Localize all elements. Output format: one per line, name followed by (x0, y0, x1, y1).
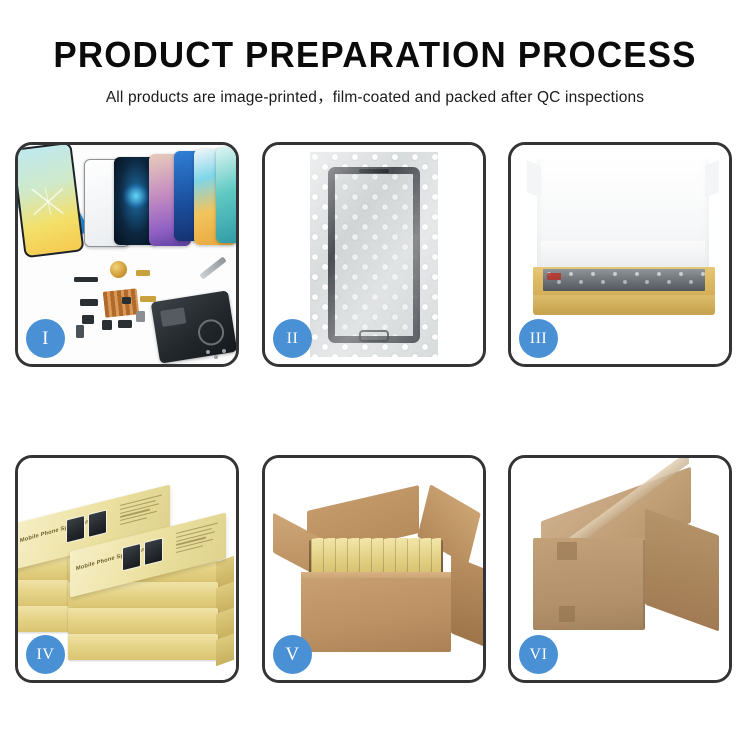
carton-front-face (301, 578, 451, 652)
tweezers-tool (199, 256, 226, 279)
wrapped-screen-in-box (543, 269, 705, 291)
bubble-wrap-sheet (310, 152, 438, 357)
step-card-6[interactable]: VI (508, 455, 732, 683)
carton-hand-hole (557, 542, 577, 560)
wrapped-phone-screen (328, 167, 420, 343)
retail-box (68, 608, 218, 634)
connector-chip-part (103, 288, 140, 317)
step-card-3[interactable]: III (508, 142, 732, 367)
kraft-box-front (533, 295, 715, 315)
spare-part (136, 270, 150, 276)
process-step-grid: I II (15, 142, 740, 683)
step-badge-5: V (273, 635, 312, 674)
spare-part (76, 325, 84, 338)
sealed-shipping-carton (533, 494, 719, 644)
open-shipping-carton (283, 492, 473, 652)
step-card-4[interactable]: Mobile Phone Spare Parts Mobile Phone Sp… (15, 455, 239, 683)
spare-part (122, 297, 131, 304)
teal-screen-panel (216, 147, 236, 243)
page-title: PRODUCT PREPARATION PROCESS (11, 36, 739, 74)
page-subtitle: All products are image-printed，film-coat… (0, 85, 750, 107)
retail-box (68, 634, 218, 660)
step-card-2[interactable]: II (262, 142, 486, 367)
phone-graphic (144, 537, 163, 566)
process-row-top: I II (15, 142, 740, 367)
spare-part (80, 299, 98, 306)
spare-part (82, 315, 94, 324)
vibration-motor-part (110, 261, 127, 278)
step-card-1[interactable]: I (15, 142, 239, 367)
step-card-5[interactable]: V (262, 455, 486, 683)
step-badge-1: I (26, 319, 65, 358)
step-badge-2: II (273, 319, 312, 358)
step-badge-3: III (519, 319, 558, 358)
carton-hand-hole (559, 606, 575, 622)
spec-text-lines (120, 495, 162, 531)
carton-front-face (533, 538, 645, 630)
carton-corner-seam (643, 540, 645, 628)
spec-text-lines (176, 523, 218, 559)
step-badge-4: IV (26, 635, 65, 674)
spare-part (140, 296, 156, 302)
carton-side-face (645, 509, 719, 632)
step-badge-6: VI (519, 635, 558, 674)
cracked-screen-phone (18, 145, 84, 258)
carton-side-face (451, 555, 483, 647)
spare-part (136, 311, 145, 322)
spare-part (102, 320, 112, 330)
phone-graphic (66, 515, 85, 544)
process-row-bottom: Mobile Phone Spare Parts Mobile Phone Sp… (15, 455, 740, 683)
spare-part (118, 320, 132, 328)
phone-graphic (122, 543, 141, 572)
infographic-page: PRODUCT PREPARATION PROCESS All products… (0, 0, 750, 750)
spare-part (74, 277, 98, 282)
screws-group (204, 348, 230, 362)
header: PRODUCT PREPARATION PROCESS All products… (0, 36, 750, 107)
phone-graphic (88, 509, 107, 538)
